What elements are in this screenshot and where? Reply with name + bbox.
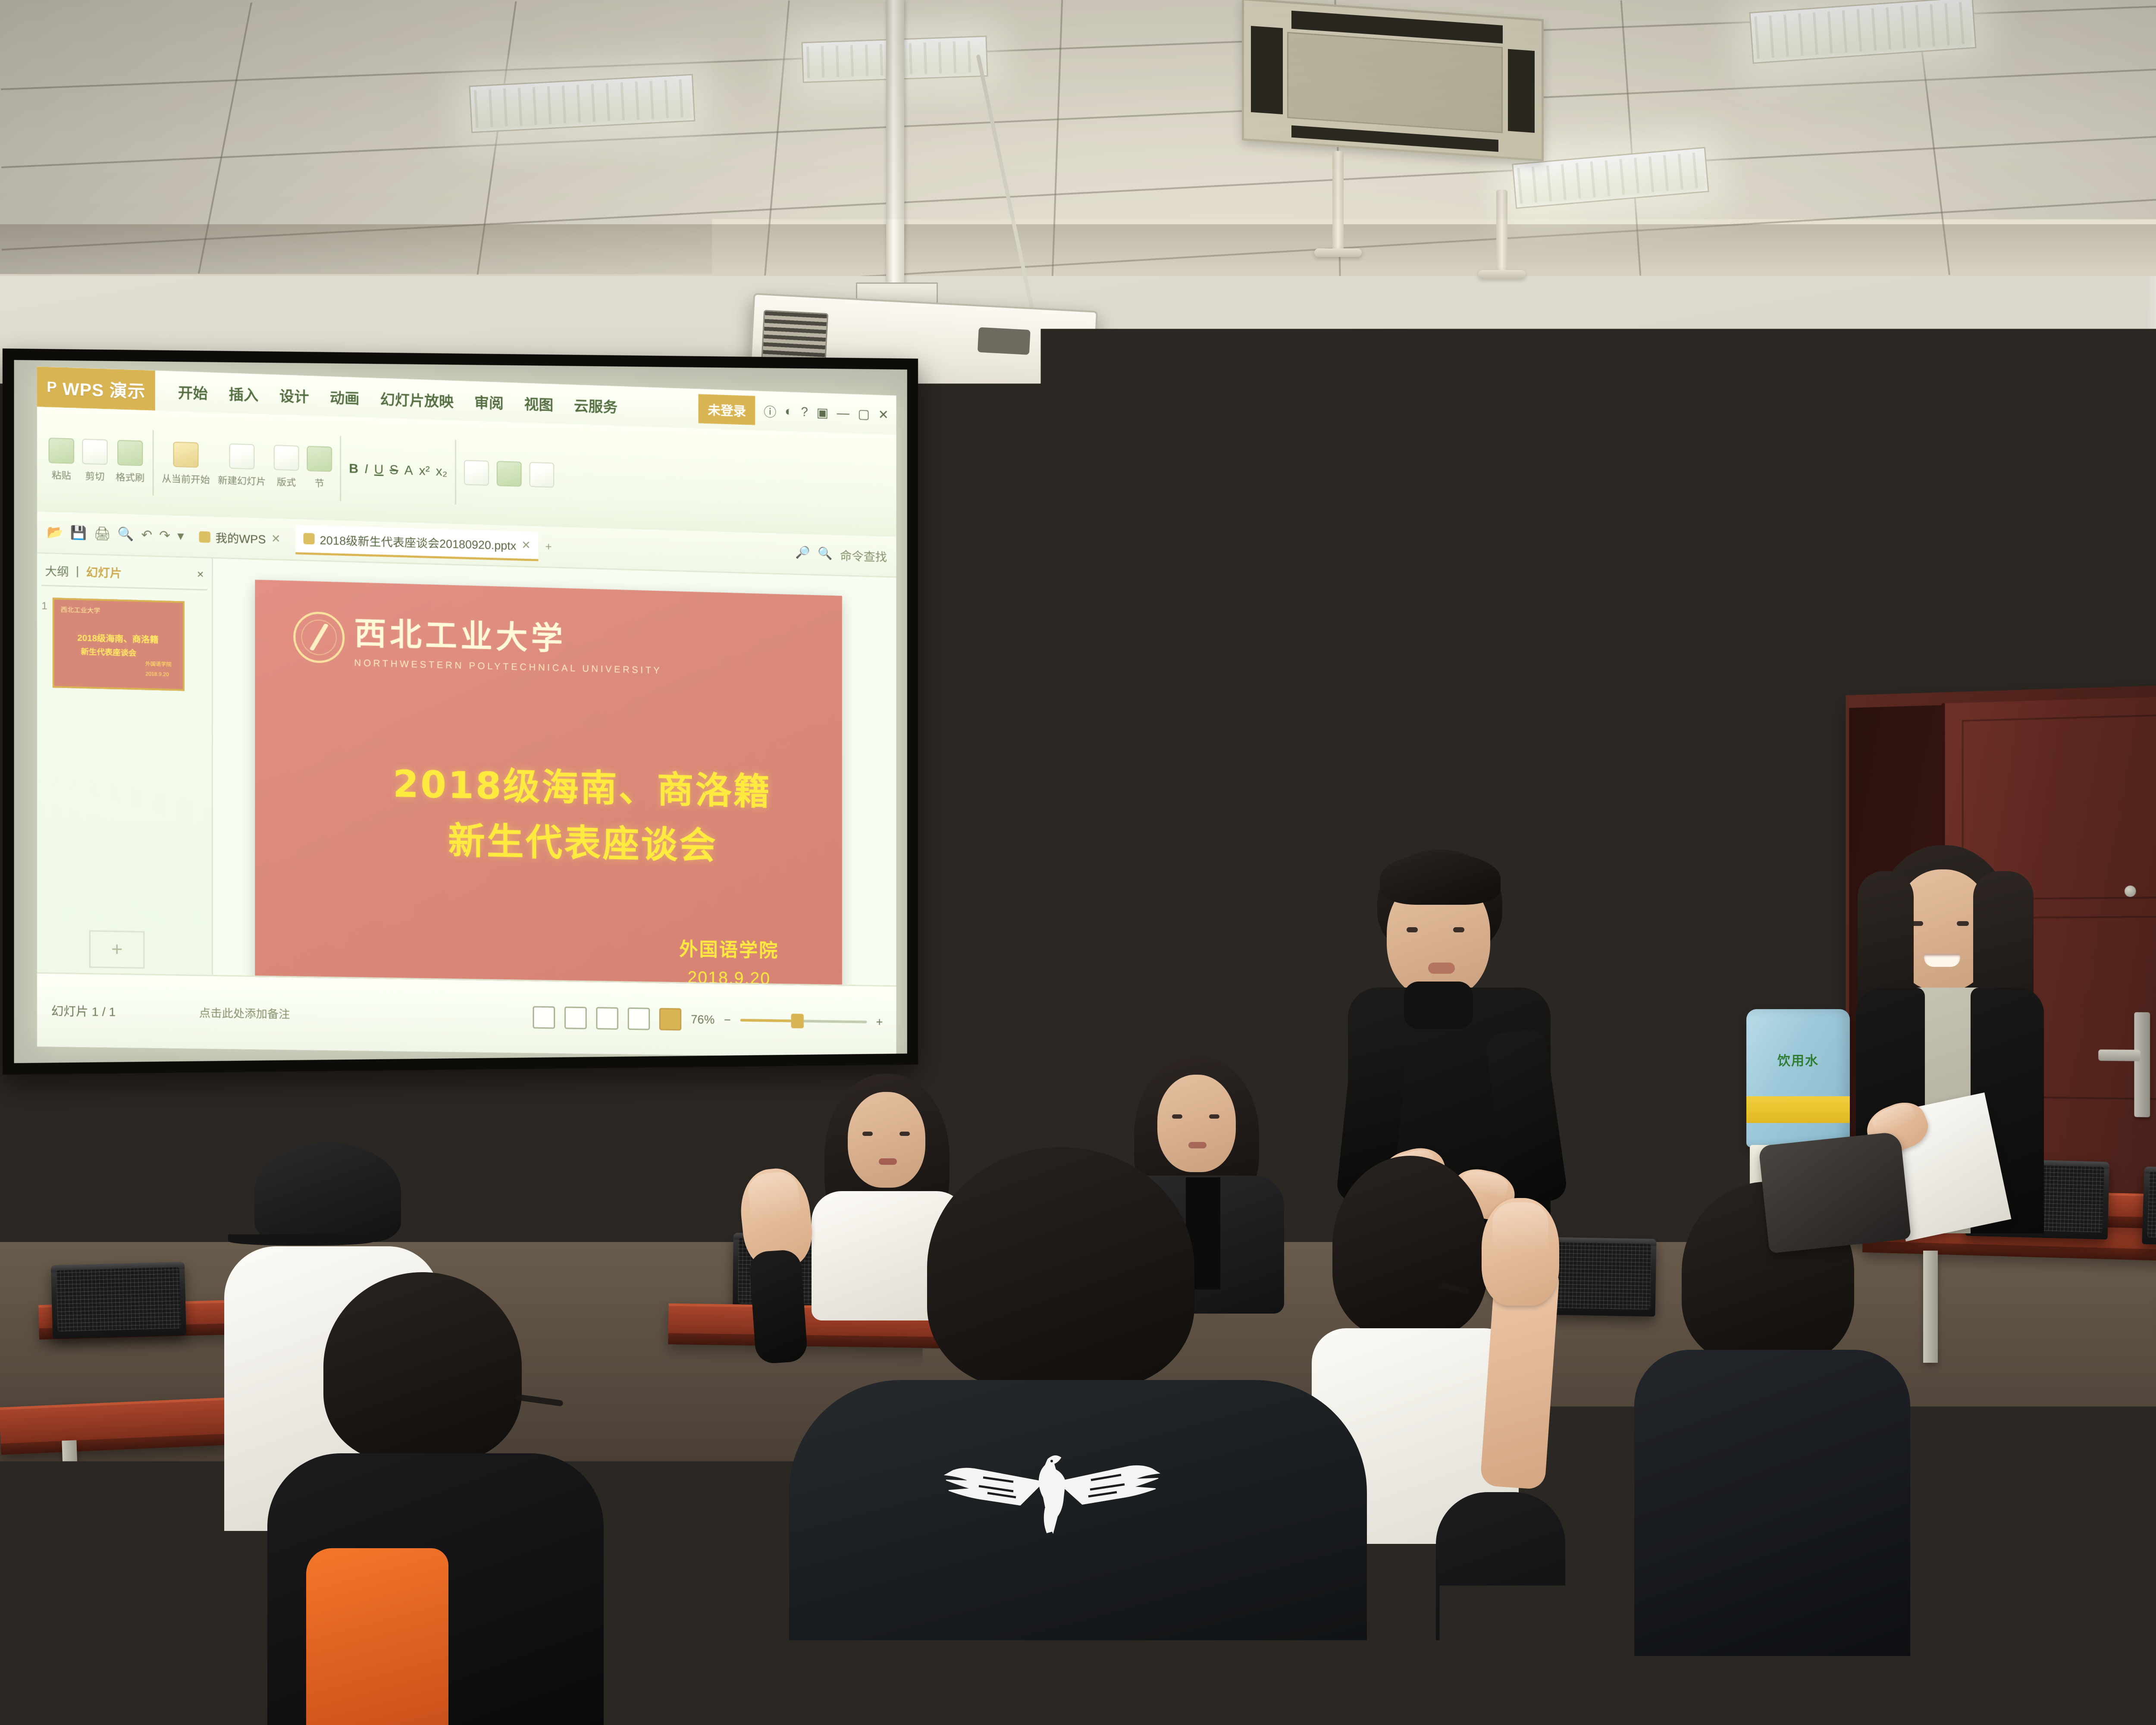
hair-fringe	[1380, 853, 1501, 905]
wps-app-logo[interactable]: P WPS 演示	[37, 367, 155, 411]
university-logo-block: 西北工业大学 NORTHWESTERN POLYTECHNICAL UNIVER…	[293, 606, 662, 676]
section-icon	[307, 446, 332, 472]
ribbon-tab-animation[interactable]: 动画	[330, 386, 359, 408]
ribbon-button-layout[interactable]: 版式	[274, 445, 299, 489]
wps-home-icon	[199, 531, 210, 543]
glasses-icon	[516, 1394, 564, 1406]
tab-outline[interactable]: 大纲	[45, 561, 69, 579]
login-status-button[interactable]: 未登录	[699, 394, 755, 425]
zoom-out-button[interactable]: −	[724, 1013, 731, 1027]
open-icon[interactable]: 📂	[47, 524, 63, 540]
ribbon-tab-view[interactable]: 视图	[524, 392, 554, 414]
student-foreground-dark	[1436, 1492, 1565, 1725]
orange-hoodie-panel	[306, 1548, 448, 1725]
close-icon[interactable]: ×	[197, 568, 204, 581]
info-icon[interactable]: ⓘ	[764, 401, 776, 421]
classroom-scene: P WPS 演示 开始 插入 设计 动画 幻灯片放映 审阅 视图 云服务 未登录…	[0, 0, 2156, 1725]
university-names: 西北工业大学 NORTHWESTERN POLYTECHNICAL UNIVER…	[354, 608, 662, 676]
zoom-slider-handle	[791, 1013, 803, 1028]
chevron-down-icon[interactable]: ▾	[177, 528, 184, 544]
ceiling-shadow	[0, 224, 2156, 276]
speaker-brand-label: KODA	[1319, 517, 1398, 529]
slide-thumbnail[interactable]: 西北工业大学 2018级海南、商洛籍 新生代表座谈会 外国语学院 2018.9.…	[53, 598, 185, 691]
ceiling-air-conditioner	[1242, 0, 1544, 161]
thumbnail-logo: 西北工业大学	[61, 605, 100, 615]
ribbon-button-find[interactable]	[530, 462, 555, 488]
slide-title-line2: 新生代表座谈会	[333, 811, 830, 876]
torso	[1634, 1350, 1910, 1656]
speaker-mount-bracket	[1297, 344, 1357, 394]
redo-icon[interactable]: ↷	[159, 528, 170, 543]
close-icon[interactable]: ✕	[878, 407, 889, 422]
format-painter-icon	[117, 440, 143, 466]
find-icon[interactable]: 🔍	[818, 546, 832, 564]
slide-number-label: 1	[41, 600, 47, 612]
ribbon-divider	[340, 436, 341, 501]
torso	[789, 1380, 1367, 1725]
ribbon-label: 新建幻灯片	[218, 473, 266, 488]
strikethrough-button[interactable]: S	[389, 463, 398, 478]
add-slide-button[interactable]: +	[89, 930, 145, 969]
underline-button[interactable]: U	[374, 462, 384, 477]
ribbon-label: 从当前开始	[162, 471, 210, 486]
preview-icon[interactable]: 🔍	[118, 527, 134, 542]
slide-canvas-area: 西北工业大学 NORTHWESTERN POLYTECHNICAL UNIVER…	[213, 558, 896, 985]
search-icon[interactable]: 🔎	[796, 545, 810, 563]
shoulder-bag	[1758, 1131, 1911, 1253]
status-right-controls: 76% − +	[533, 1006, 883, 1033]
cut-icon	[82, 439, 107, 465]
ribbon-button-arrange[interactable]	[497, 461, 522, 487]
ribbon-label: 格式刷	[116, 470, 144, 484]
find-replace-icon	[530, 462, 555, 488]
restore-icon[interactable]: ▢	[858, 407, 870, 422]
slide-title-block: 2018级海南、商洛籍 新生代表座谈会	[333, 755, 830, 876]
hair	[927, 1147, 1194, 1389]
paste-icon	[49, 438, 74, 464]
speaker-woofer	[1329, 457, 1387, 514]
thumbnail-organizer: 外国语学院	[145, 660, 172, 668]
wps-app-name: WPS 演示	[63, 375, 145, 403]
shapes-icon	[464, 460, 489, 486]
tab-label: 我的WPS	[216, 529, 266, 547]
ribbon-tab-cloud[interactable]: 云服务	[574, 394, 617, 417]
chair	[51, 1262, 186, 1339]
ribbon-button-cut[interactable]: 剪切	[82, 439, 107, 483]
tab-presentation-file[interactable]: 2018级新生代表座谈会20180920.pptx ✕	[295, 525, 539, 561]
slide-outline-pane: 大纲 | 幻灯片 × 1 西北工业大学 2018级海南、商洛籍 新生代表座谈会 …	[37, 554, 213, 975]
ribbon-tab-list: 开始 插入 设计 动画 幻灯片放映 审阅 视图 云服务	[155, 380, 617, 417]
ribbon-label: 版式	[277, 474, 296, 489]
zoom-in-button[interactable]: +	[876, 1015, 883, 1029]
notes-placeholder[interactable]: 点击此处添加备注	[199, 1004, 290, 1022]
projection-screen: P WPS 演示 开始 插入 设计 动画 幻灯片放映 审阅 视图 云服务 未登录…	[3, 348, 918, 1075]
student-orange-hoodie	[241, 1272, 655, 1725]
thumbnail-date: 2018.9.20	[145, 671, 169, 677]
quick-access-toolbar: 📂 💾 🖨 🔍 ↶ ↷ ▾	[47, 524, 184, 544]
ceiling-fan	[1496, 190, 1507, 272]
skin-icon[interactable]: ◐	[785, 404, 793, 419]
papers-on-desk	[1983, 1179, 2084, 1210]
active-slide[interactable]: 西北工业大学 NORTHWESTERN POLYTECHNICAL UNIVER…	[255, 580, 842, 1013]
save-icon[interactable]: 💾	[70, 525, 87, 541]
print-icon[interactable]: 🖨	[94, 526, 111, 542]
cap-icon	[254, 1143, 401, 1242]
new-slide-icon	[229, 443, 255, 469]
ribbon-label: 粘贴	[52, 467, 71, 482]
ribbon-tab-slideshow[interactable]: 幻灯片放映	[380, 387, 454, 411]
ribbon-tab-start[interactable]: 开始	[178, 381, 208, 403]
slide-thumbnail-item[interactable]: 1 西北工业大学 2018级海南、商洛籍 新生代表座谈会 外国语学院 2018.…	[41, 597, 207, 691]
tabstrip-right-controls: 🔎 🔍 命令查找	[796, 545, 887, 565]
feedback-icon[interactable]: ▣	[816, 405, 828, 420]
new-tab-button[interactable]: +	[545, 540, 552, 553]
ribbon-button-new-slide[interactable]: 新建幻灯片	[218, 443, 266, 488]
wps-logo-mark: P	[47, 379, 57, 396]
undo-icon[interactable]: ↶	[141, 527, 152, 543]
wall-speaker: KODA	[1316, 394, 1399, 533]
zoom-slider[interactable]	[740, 1019, 867, 1023]
pptx-icon	[303, 533, 314, 545]
normal-view-icon[interactable]	[533, 1006, 555, 1029]
ribbon-label: 剪切	[85, 468, 105, 483]
ceiling-fan	[1332, 151, 1344, 250]
ribbon-tab-design[interactable]: 设计	[279, 384, 309, 407]
university-name-cn: 西北工业大学	[354, 608, 662, 662]
layout-icon	[274, 445, 299, 471]
superscript-button[interactable]: x²	[419, 464, 430, 479]
slide-sorter-icon[interactable]	[564, 1006, 587, 1029]
chair	[2142, 1167, 2156, 1248]
outline-pane-tabs: 大纲 | 幻灯片 ×	[41, 560, 207, 590]
slideshow-play-icon[interactable]	[659, 1008, 681, 1030]
wps-status-bar: 幻灯片 1 / 1 点击此处添加备注 76% − +	[37, 972, 896, 1057]
close-icon[interactable]: ✕	[521, 538, 531, 552]
italic-button[interactable]: I	[364, 462, 368, 477]
slide-title-line1: 2018级海南、商洛籍	[333, 755, 830, 821]
ribbon-divider	[455, 440, 456, 505]
help-icon[interactable]: ?	[801, 405, 808, 420]
slide-organizer: 外国语学院	[679, 934, 779, 963]
door-handle-icon[interactable]	[2134, 1012, 2150, 1117]
font-color-button[interactable]: A	[404, 463, 413, 478]
font-format-controls: B I U S A x² x₂	[349, 461, 447, 479]
arrange-icon	[497, 461, 522, 487]
projected-wps-window: P WPS 演示 开始 插入 设计 动画 幻灯片放映 审阅 视图 云服务 未登录…	[37, 367, 896, 1058]
titlebar-controls: 未登录 ⓘ ◐ ? ▣ — ▢ ✕	[699, 394, 896, 430]
eagle-graphic-icon	[940, 1445, 1164, 1544]
bold-button[interactable]: B	[349, 461, 358, 477]
raised-hand	[1482, 1198, 1559, 1306]
ribbon-button-play-from-current[interactable]: 从当前开始	[162, 441, 210, 486]
close-icon[interactable]: ✕	[271, 532, 281, 546]
ribbon-button-shapes[interactable]	[464, 460, 489, 486]
student-dark-navy	[1626, 1182, 1945, 1656]
wall-outlet[interactable]	[1755, 916, 1780, 928]
command-search-label[interactable]: 命令查找	[840, 546, 887, 565]
slide-counter: 幻灯片 1 / 1	[51, 1001, 116, 1020]
door-lock-icon	[2125, 885, 2136, 897]
projector-lens	[978, 327, 1031, 355]
tab-label: 2018级新生代表座谈会20180920.pptx	[320, 530, 517, 553]
ribbon-label: 节	[315, 476, 324, 490]
thumbnail-title-line2: 新生代表座谈会	[81, 646, 137, 659]
ribbon-button-paste[interactable]: 粘贴	[49, 438, 74, 482]
thumbnail-title-line1: 2018级海南、商洛籍	[78, 630, 159, 645]
zoom-level-label: 76%	[691, 1013, 714, 1027]
student-eagle-jacket	[755, 1147, 1401, 1725]
tab-slides[interactable]: 幻灯片	[86, 563, 122, 581]
ribbon-tab-review[interactable]: 审阅	[474, 391, 504, 413]
play-from-current-icon	[173, 442, 199, 467]
zoom-slider-fill	[740, 1019, 791, 1022]
hair	[323, 1272, 522, 1462]
reading-view-icon[interactable]	[596, 1007, 618, 1030]
notes-view-icon[interactable]	[628, 1007, 650, 1030]
ribbon-tab-insert[interactable]: 插入	[229, 383, 258, 405]
projector-mount-pole	[886, 0, 904, 302]
ribbon-button-section[interactable]: 节	[307, 446, 332, 490]
slide-footer-block: 外国语学院 2018.9.20	[679, 934, 779, 989]
npu-seal-icon	[293, 611, 345, 664]
subscript-button[interactable]: x₂	[436, 464, 448, 479]
ribbon-divider	[153, 430, 154, 496]
tab-my-wps[interactable]: 我的WPS ✕	[191, 523, 288, 553]
speaker-tweeter	[1340, 414, 1374, 448]
ribbon-button-format-painter[interactable]: 格式刷	[116, 440, 144, 484]
minimize-icon[interactable]: —	[837, 406, 849, 421]
